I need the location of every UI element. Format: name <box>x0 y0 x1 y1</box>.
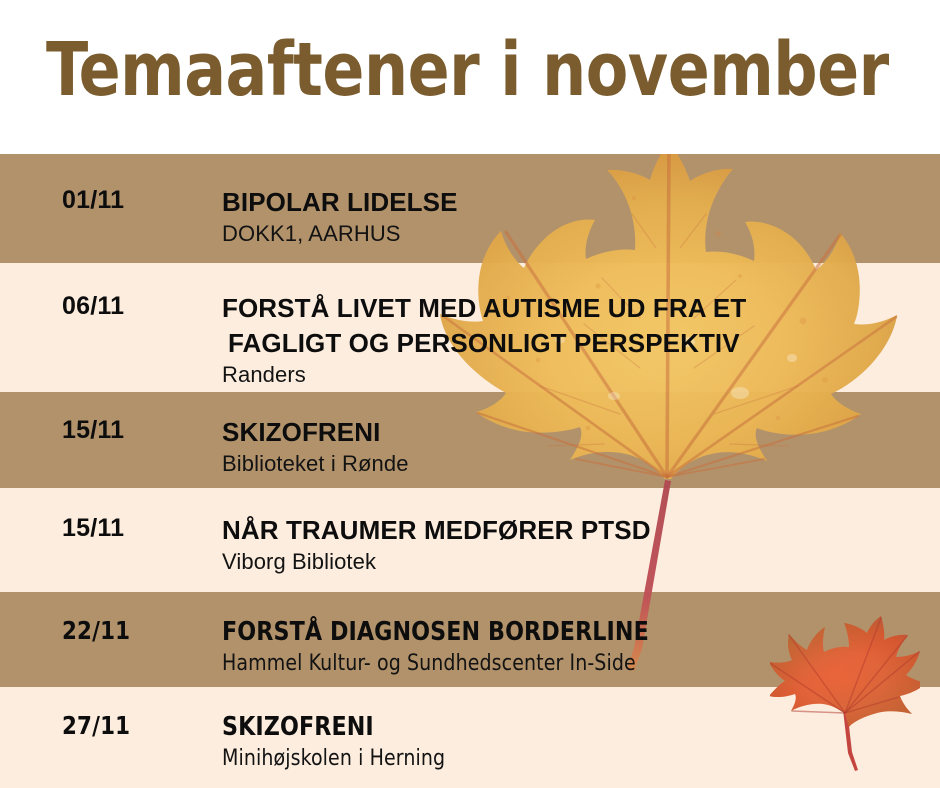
event-place: DOKK1, AARHUS <box>222 221 401 247</box>
event-title: FORSTÅ LIVET MED AUTISME UD FRA ET <box>222 291 746 325</box>
event-row-5: 22/11 FORSTÅ DIAGNOSEN BORDERLINE Hammel… <box>0 592 940 687</box>
event-date: 15/11 <box>62 416 124 445</box>
event-row-1: 01/11 BIPOLAR LIDELSE DOKK1, AARHUS <box>0 154 940 263</box>
poster-header: Temaaftener i november <box>0 0 940 154</box>
event-title: NÅR TRAUMER MEDFØRER PTSD <box>222 513 651 547</box>
event-date: 01/11 <box>62 186 124 215</box>
event-title: BIPOLAR LIDELSE <box>222 185 458 219</box>
event-title: SKIZOFRENI <box>222 710 374 744</box>
event-date: 22/11 <box>62 616 130 645</box>
event-place: Randers <box>222 362 306 388</box>
event-place: Viborg Bibliotek <box>222 549 376 575</box>
event-title: FORSTÅ DIAGNOSEN BORDERLINE <box>222 615 649 649</box>
event-row-6: 27/11 SKIZOFRENI Minihøjskolen i Herning <box>0 687 940 788</box>
event-title: SKIZOFRENI <box>222 415 380 449</box>
event-place: Biblioteket i Rønde <box>222 451 409 477</box>
event-row-3: 15/11 SKIZOFRENI Biblioteket i Rønde <box>0 392 940 488</box>
event-place: Hammel Kultur- og Sundhedscenter In-Side <box>222 651 636 676</box>
poster-root: Temaaftener i november 01/11 BIPOLAR LID… <box>0 0 940 788</box>
event-row-2: 06/11 FORSTÅ LIVET MED AUTISME UD FRA ET… <box>0 263 940 392</box>
event-date: 15/11 <box>62 514 124 543</box>
event-title-line2: FAGLIGT OG PERSONLIGT PERSPEKTIV <box>228 326 740 360</box>
event-place: Minihøjskolen i Herning <box>222 746 445 771</box>
event-date: 06/11 <box>62 292 124 321</box>
page-title: Temaaftener i november <box>46 26 889 114</box>
event-date: 27/11 <box>62 711 130 740</box>
event-row-4: 15/11 NÅR TRAUMER MEDFØRER PTSD Viborg B… <box>0 488 940 592</box>
